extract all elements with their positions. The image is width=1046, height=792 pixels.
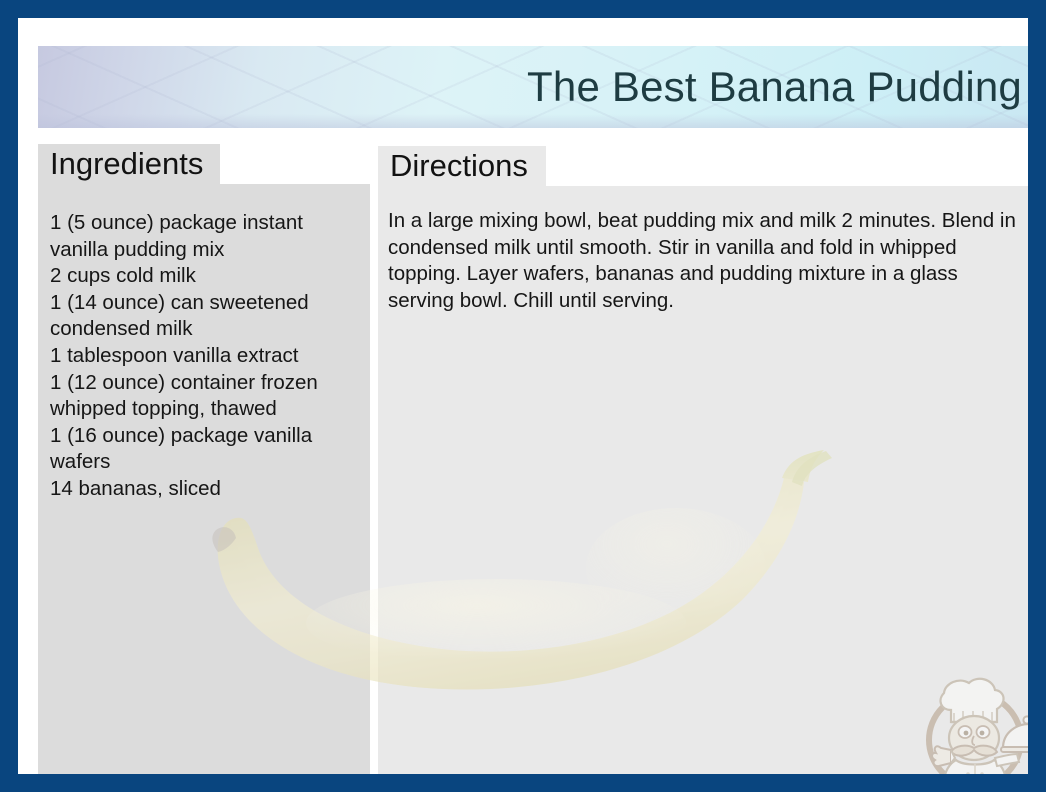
chef-logo-icon bbox=[911, 666, 1043, 792]
list-item: 1 tablespoon vanilla extract bbox=[50, 343, 354, 370]
list-item: 1 (12 ounce) container frozen whipped to… bbox=[50, 370, 354, 423]
list-item: 14 bananas, sliced bbox=[50, 476, 354, 503]
ingredients-header: Ingredients bbox=[38, 144, 220, 184]
list-item: 1 (14 ounce) can sweetened condensed mil… bbox=[50, 290, 354, 343]
list-item: 2 cups cold milk bbox=[50, 263, 354, 290]
recipe-slide: The Best Banana Pudding Ingredients 1 (5… bbox=[0, 0, 1046, 792]
title-banner: The Best Banana Pudding bbox=[38, 46, 1044, 128]
list-item: 1 (5 ounce) package instant vanilla pudd… bbox=[50, 210, 354, 263]
ingredients-panel: 1 (5 ounce) package instant vanilla pudd… bbox=[38, 184, 370, 792]
ingredients-list: 1 (5 ounce) package instant vanilla pudd… bbox=[50, 210, 354, 503]
list-item: 1 (16 ounce) package vanilla wafers bbox=[50, 423, 354, 476]
ingredients-header-label: Ingredients bbox=[50, 146, 203, 182]
directions-text: In a large mixing bowl, beat pudding mix… bbox=[388, 208, 1026, 314]
directions-header-label: Directions bbox=[390, 148, 528, 184]
directions-header: Directions bbox=[378, 146, 546, 186]
page-title: The Best Banana Pudding bbox=[527, 66, 1022, 108]
